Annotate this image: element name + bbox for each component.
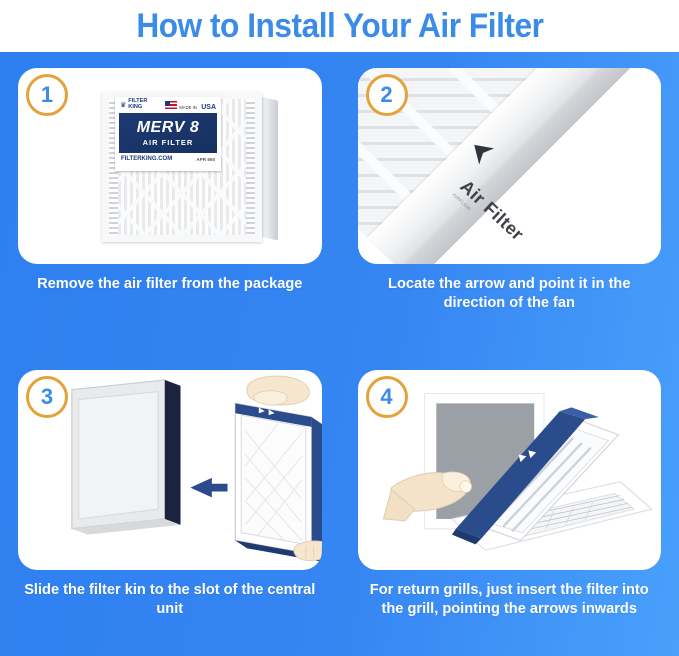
central-unit-slot [72,380,181,535]
step-3-caption: Slide the filter kin to the slot of the … [18,581,322,618]
step-2-badge: 2 [366,74,408,116]
made-in-usa-text: MADE IN USA [179,97,216,114]
label-merv-panel: MERV 8 AIR FILTER [119,113,217,153]
title-band: How to Install Your Air Filter [0,0,679,52]
filter-type: AIR FILTER [143,138,194,147]
upper-hand [247,376,309,405]
brand-name: FILTER KING [128,99,147,110]
filter-right-pleat-edge [246,99,255,235]
step-3-badge: 3 [26,376,68,418]
step-1-card: ♛ FILTER KING MADE IN [18,68,322,264]
label-footer-row: FILTERKING.COM APR 650 [121,156,215,162]
made-in-text: MADE IN [179,105,196,110]
steps-grid: ♛ FILTER KING MADE IN [0,52,679,656]
step-4-badge: 4 [366,376,408,418]
crown-icon: ♛ [120,101,126,109]
product-label: ♛ FILTER KING MADE IN [115,97,221,171]
step-2-card: Air Filter AIRFLOW 2 [358,68,662,264]
label-header-row: ♛ FILTER KING MADE IN [115,97,221,113]
air-filter-product: ♛ FILTER KING MADE IN [102,92,262,242]
lower-hand [294,541,322,560]
country-text: USA [201,104,216,111]
step-1-caption: Remove the air filter from the package [18,275,322,294]
step-4-card: 4 [358,370,662,570]
step-2-caption: Locate the arrow and point it in the dir… [358,275,662,312]
filter-king-logo: ♛ FILTER KING [120,99,147,110]
direction-arrow-icon [190,478,227,498]
usa-flag-icon [165,101,177,109]
apr-rating: APR 650 [196,157,215,162]
step-2: Air Filter AIRFLOW 2 Locate the arrow an… [340,52,679,354]
brand-line-2: KING [128,104,142,110]
step-4-caption: For return grills, just insert the filte… [358,581,662,618]
step-3: 3 Slide the filter kin to the slot of th… [0,354,340,656]
brand-website: FILTERKING.COM [121,156,172,162]
merv-rating: MERV 8 [137,120,200,136]
made-in-usa-badge: MADE IN USA [165,97,216,114]
step-4: 4 For return grills, just insert the fil… [340,354,679,656]
step-3-card: 3 [18,370,322,570]
infographic-page: How to Install Your Air Filter [0,0,679,656]
step-1: ♛ FILTER KING MADE IN [0,52,340,354]
air-filter-panel [235,403,321,562]
step-1-badge: 1 [26,74,68,116]
page-title: How to Install Your Air Filter [136,7,543,46]
